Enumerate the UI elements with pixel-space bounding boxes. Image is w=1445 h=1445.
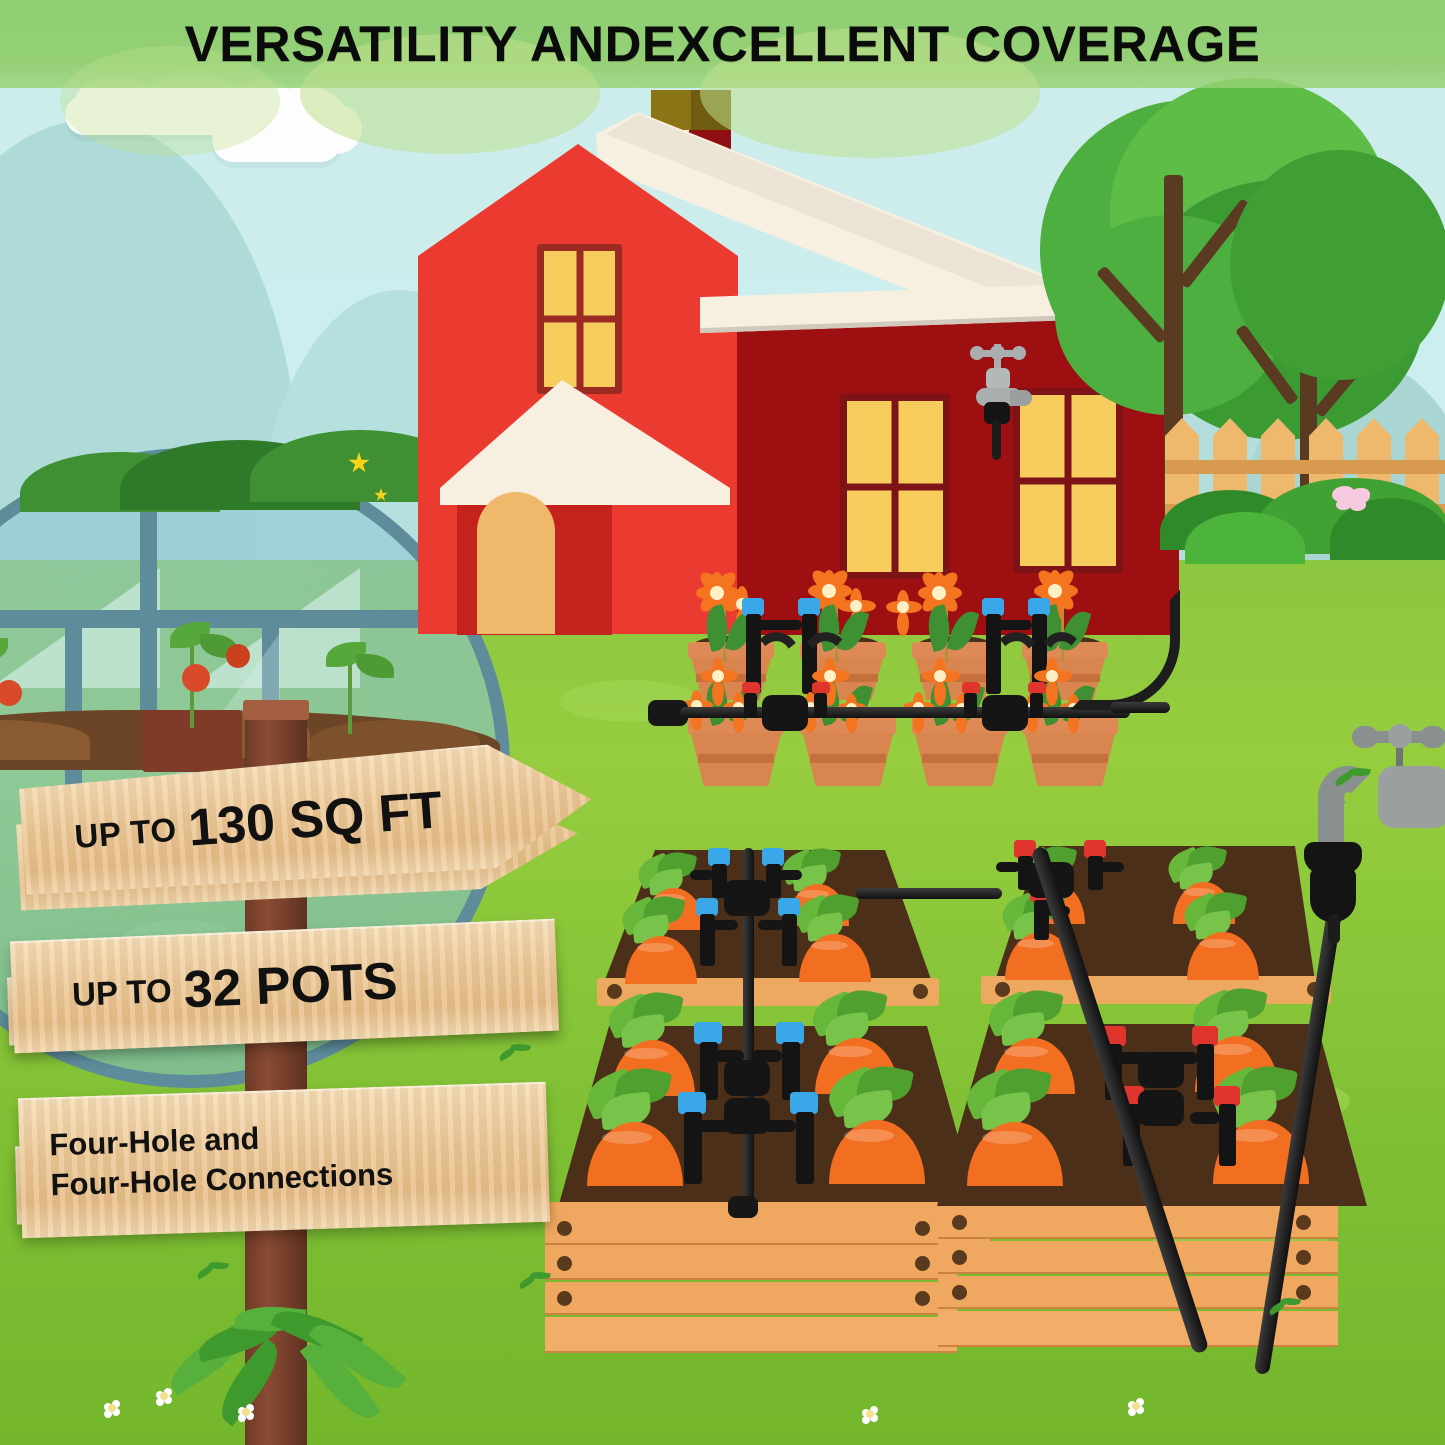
four-hole-connector	[982, 695, 1028, 731]
four-hole-connector	[724, 1060, 770, 1096]
sign-pots-prefix: UP TO	[71, 972, 172, 1014]
white-flower-icon	[862, 1406, 878, 1422]
four-hole-connector	[762, 695, 808, 731]
drip-branch-line	[1110, 702, 1170, 713]
sign-coverage-value: 130 SQ FT	[186, 780, 444, 858]
sign-pots[interactable]: UP TO 32 POTS	[10, 919, 559, 1054]
butterfly-icon	[1332, 486, 1372, 514]
house-door	[477, 492, 555, 634]
sign-pots-value: 32 POTS	[182, 951, 398, 1020]
page-title: VERSATILITY ANDEXCELLENT COVERAGE	[0, 0, 1445, 88]
four-hole-connector	[1138, 1090, 1184, 1126]
pipe-end-cap	[728, 1196, 758, 1218]
white-flower-icon	[156, 1388, 172, 1404]
outdoor-faucet-icon	[1290, 722, 1445, 952]
infographic-canvas: UP TO 130 SQ FT UP TO 32 POTS Four-Hole …	[0, 0, 1445, 1445]
grass-clump	[170, 1300, 430, 1445]
sign-connections[interactable]: Four-Hole and Four-Hole Connections	[18, 1082, 550, 1239]
gable-window	[537, 244, 622, 394]
flower-icon	[832, 694, 882, 742]
sign-coverage-prefix: UP TO	[73, 811, 178, 856]
white-flower-icon	[1128, 1398, 1144, 1414]
four-hole-connector	[1138, 1052, 1184, 1088]
wall-faucet-icon	[972, 344, 1044, 430]
four-hole-connector	[724, 1098, 770, 1134]
four-hole-connector	[724, 880, 770, 916]
white-flower-icon	[238, 1404, 254, 1420]
front-window-left	[840, 394, 950, 579]
white-flower-icon	[104, 1400, 120, 1416]
